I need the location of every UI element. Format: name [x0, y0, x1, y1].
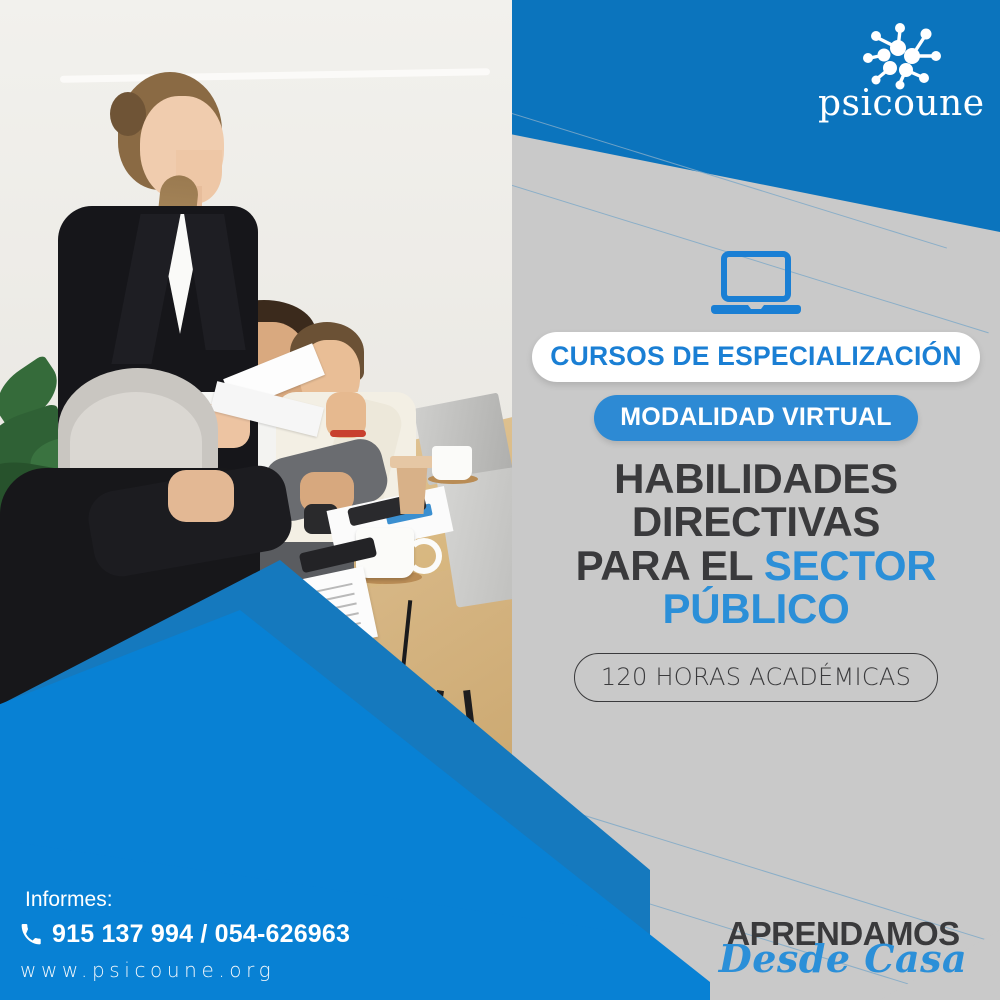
- promo-poster: psicoune CURSOS DE ESPECIALIZACIÓN MODAL…: [0, 0, 1000, 1000]
- headline-line-3-plain: PARA EL: [576, 542, 764, 589]
- brand-logo[interactable]: psicoune: [818, 22, 978, 122]
- photo-mug-handle: [406, 538, 442, 574]
- photo-person-grey-hand: [168, 470, 234, 522]
- photo-wrist-band: [330, 430, 366, 437]
- academic-hours-badge: 120 HORAS ACADÉMICAS: [574, 653, 938, 702]
- modality-badge: MODALIDAD VIRTUAL: [594, 395, 917, 441]
- contact-phone-row[interactable]: 915 137 994 / 054-626963: [20, 920, 440, 949]
- contact-phone-numbers: 915 137 994 / 054-626963: [52, 920, 350, 949]
- headline-line-2: DIRECTIVAS: [528, 500, 984, 543]
- laptop-icon: [708, 248, 804, 320]
- headline-line-1: HABILIDADES: [528, 457, 984, 500]
- contact-website[interactable]: www.psicoune.org: [20, 958, 440, 982]
- phone-handset-icon: [20, 924, 42, 946]
- contact-label: Informes:: [25, 888, 440, 912]
- contact-block: Informes: 915 137 994 / 054-626963 www.p…: [20, 888, 440, 982]
- headline-line-3-accent: SECTOR: [764, 542, 936, 589]
- photo-mug-far: [432, 446, 472, 480]
- content-column: CURSOS DE ESPECIALIZACIÓN MODALIDAD VIRT…: [528, 248, 984, 702]
- headline-line-4: PÚBLICO: [528, 587, 984, 630]
- tagline-block: APRENDAMOS Desde Casa: [708, 917, 978, 978]
- tagline-line-2: Desde Casa: [708, 940, 978, 978]
- headline-line-3: PARA EL SECTOR: [528, 544, 984, 587]
- molecule-network-icon: [848, 22, 948, 90]
- course-type-badge: CURSOS DE ESPECIALIZACIÓN: [532, 332, 979, 382]
- logo-wordmark: psicoune: [818, 86, 978, 122]
- page-title: HABILIDADES DIRECTIVAS PARA EL SECTOR PÚ…: [528, 457, 984, 631]
- photo-coffee-cup-lid: [390, 456, 434, 468]
